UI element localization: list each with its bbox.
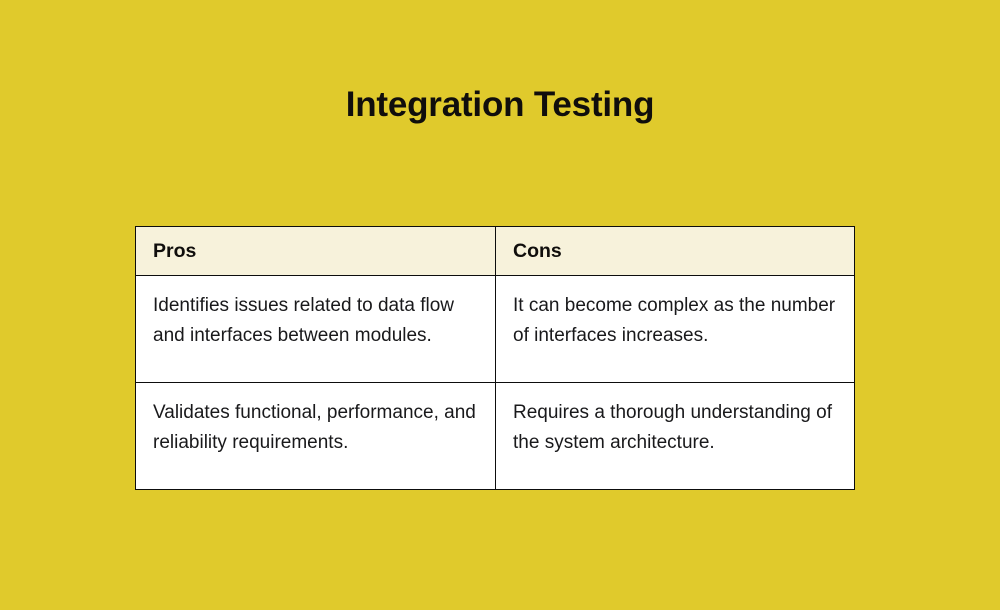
column-header-cons: Cons bbox=[496, 227, 855, 276]
cell-pros-1: Identifies issues related to data flow a… bbox=[136, 276, 496, 383]
table-row: Identifies issues related to data flow a… bbox=[136, 276, 855, 383]
pros-cons-table: Pros Cons Identifies issues related to d… bbox=[135, 226, 855, 490]
cell-cons-1: It can become complex as the number of i… bbox=[496, 276, 855, 383]
table-body: Identifies issues related to data flow a… bbox=[136, 276, 855, 490]
table-header-row: Pros Cons bbox=[136, 227, 855, 276]
table-header: Pros Cons bbox=[136, 227, 855, 276]
column-header-pros: Pros bbox=[136, 227, 496, 276]
page-title: Integration Testing bbox=[0, 82, 1000, 128]
cell-cons-2: Requires a thorough understanding of the… bbox=[496, 383, 855, 490]
slide-canvas: Integration Testing Pros Cons Identifies… bbox=[0, 0, 1000, 610]
table-row: Validates functional, performance, and r… bbox=[136, 383, 855, 490]
cell-pros-2: Validates functional, performance, and r… bbox=[136, 383, 496, 490]
